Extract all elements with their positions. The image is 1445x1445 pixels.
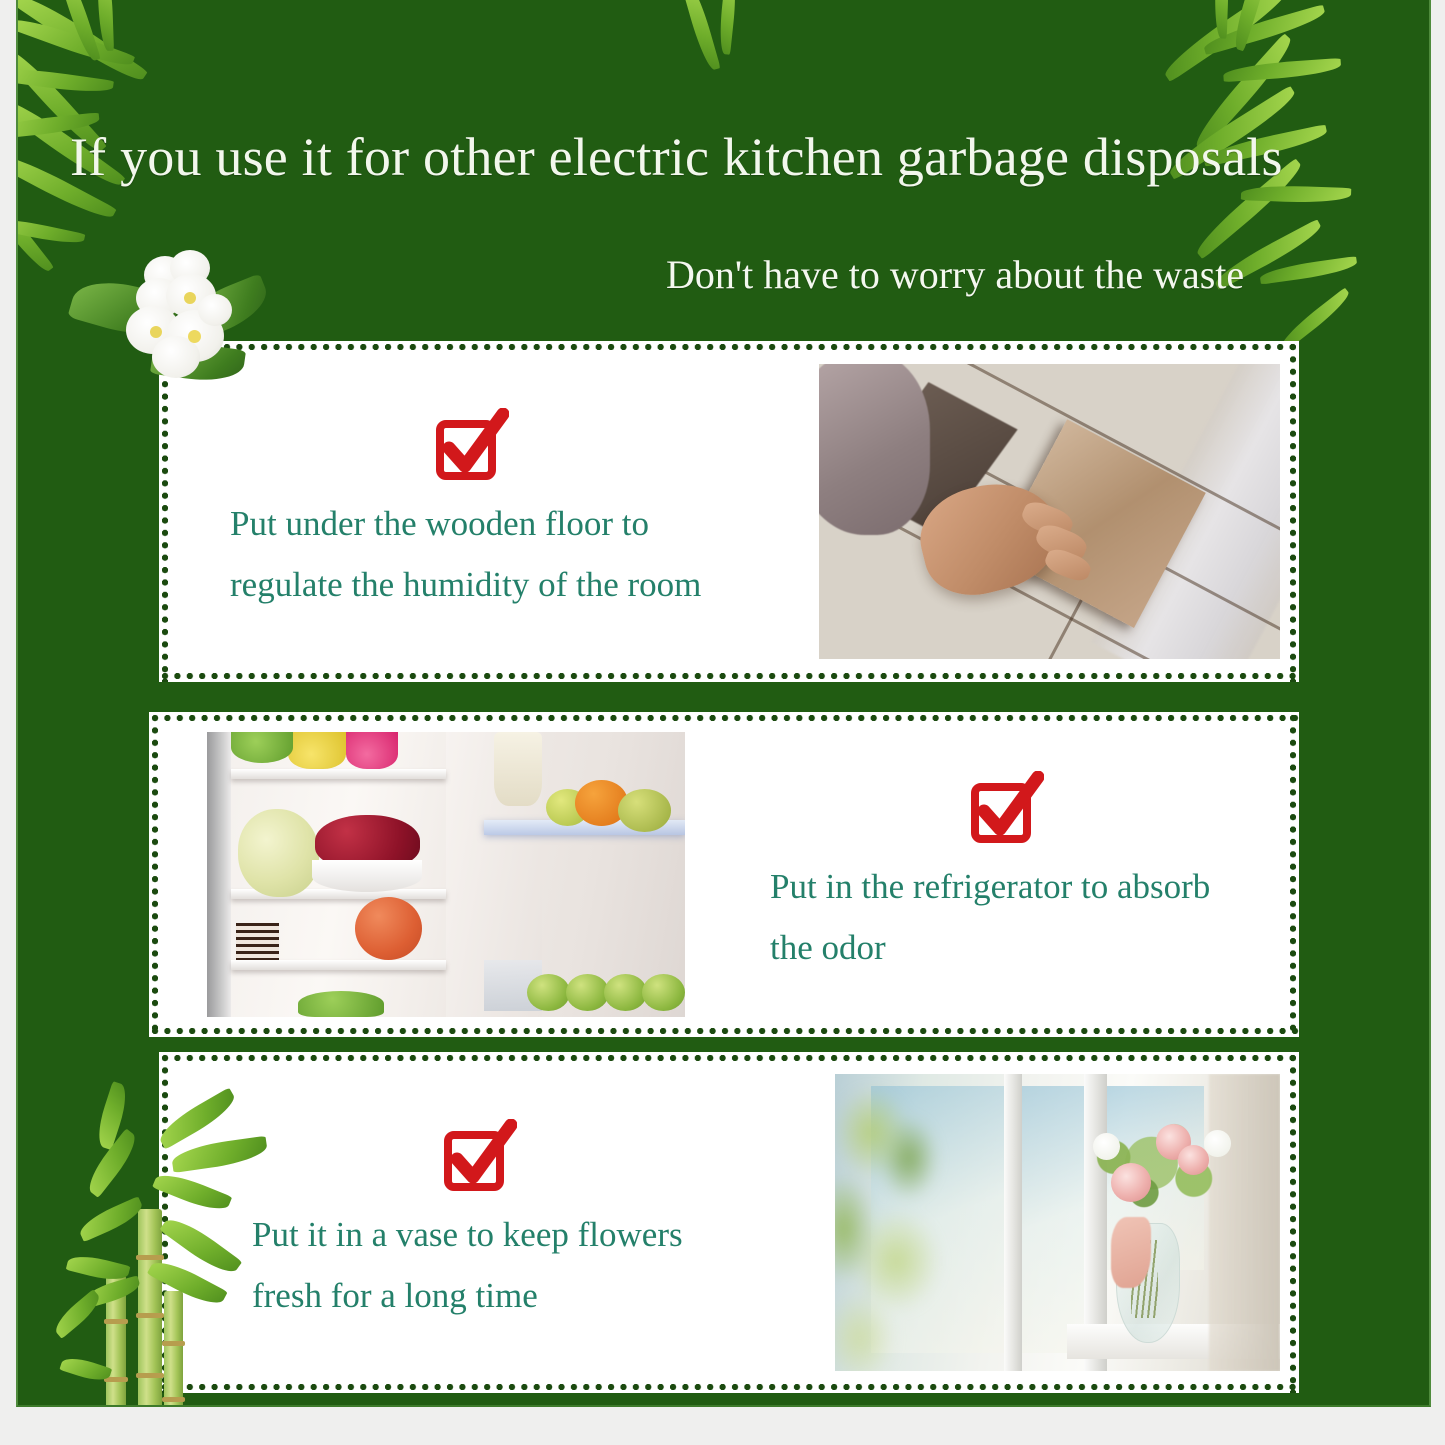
red-checkbox-icon (437, 1119, 835, 1191)
green-panel: If you use it for other electric kitchen… (16, 0, 1431, 1407)
card-text-column: Put it in a vase to keep flowers fresh f… (169, 1062, 835, 1383)
card-text-line: the odor (770, 918, 1289, 978)
page-subtitle: Don't have to worry about the waste (666, 255, 1244, 295)
red-checkbox-icon (964, 771, 1289, 843)
feature-card-flower-vase[interactable]: Put it in a vase to keep flowers fresh f… (159, 1052, 1299, 1393)
feature-card-wooden-floor[interactable]: Put under the wooden floor to regulate t… (159, 341, 1299, 682)
poster-root: If you use it for other electric kitchen… (0, 0, 1445, 1445)
card-text-line: Put under the wooden floor to (224, 494, 819, 554)
wooden-floor-installation-photo (819, 364, 1280, 659)
red-checkbox-icon (429, 408, 819, 480)
page-title: If you use it for other electric kitchen… (70, 130, 1430, 184)
card-text-line: fresh for a long time (252, 1266, 835, 1326)
feature-card-refrigerator[interactable]: Put in the refrigerator to absorb the od… (149, 712, 1299, 1037)
card-text-column: Put in the refrigerator to absorb the od… (685, 722, 1289, 1027)
flower-vase-window-photo (835, 1074, 1280, 1371)
card-text-column: Put under the wooden floor to regulate t… (169, 351, 819, 672)
card-text-line: regulate the humidity of the room (224, 555, 819, 615)
bamboo-leaves-decoration-top-center (658, 0, 858, 94)
card-text-line: Put it in a vase to keep flowers (252, 1205, 835, 1265)
open-refrigerator-photo (207, 732, 685, 1017)
card-text-line: Put in the refrigerator to absorb (770, 857, 1289, 917)
